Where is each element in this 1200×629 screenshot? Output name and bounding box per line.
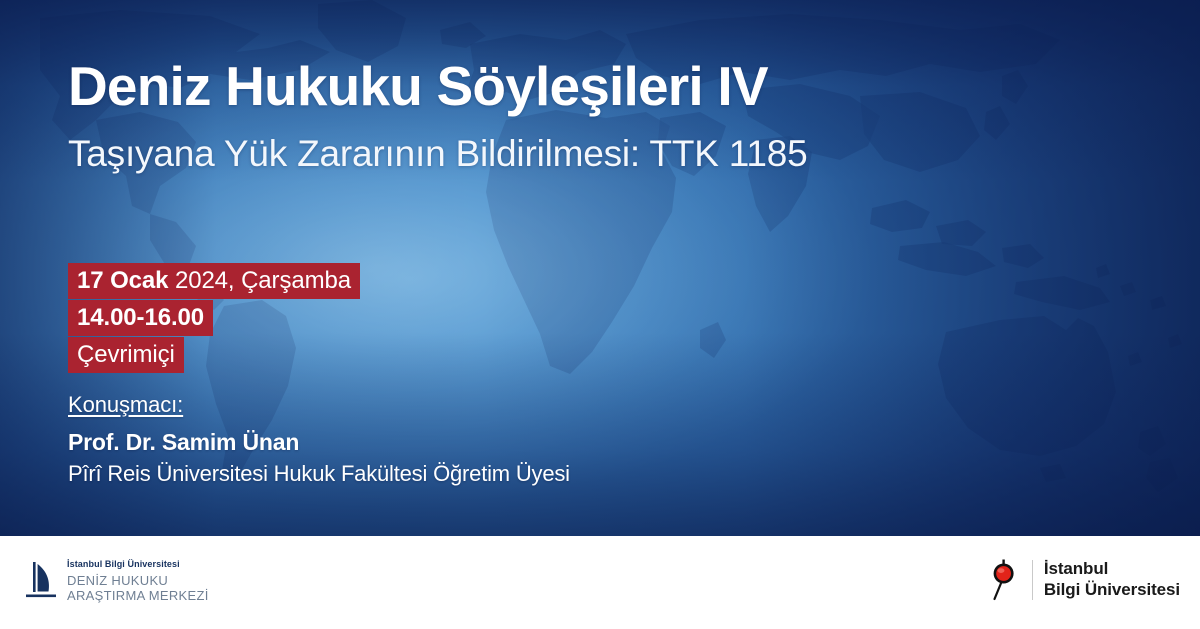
deniz-hukuku-logo-text: İstanbul Bilgi Üniversitesi DENİZ HUKUKU…	[67, 559, 209, 603]
bilgi-logo-line2: Bilgi Üniversitesi	[1044, 580, 1180, 601]
event-mode: Çevrimiçi	[68, 337, 184, 373]
event-mode-line: Çevrimiçi	[68, 336, 488, 373]
hero-panel: Deniz Hukuku Söyleşileri IV Taşıyana Yük…	[0, 0, 1200, 536]
event-time: 14.00-16.00	[68, 300, 213, 336]
bilgi-universitesi-logo: İstanbul Bilgi Üniversitesi	[987, 558, 1180, 602]
event-details: 17 Ocak 2024, Çarşamba 14.00-16.00 Çevri…	[68, 262, 488, 373]
speaker-name: Prof. Dr. Samim Ünan	[68, 429, 570, 456]
speaker-block: Konuşmacı: Prof. Dr. Samim Ünan Pîrî Rei…	[68, 392, 570, 487]
speaker-affiliation: Pîrî Reis Üniversitesi Hukuk Fakültesi Ö…	[68, 461, 570, 487]
speaker-label: Konuşmacı:	[68, 392, 570, 418]
logo-center-line1: DENİZ HUKUKU	[67, 573, 209, 588]
logo-center-line2: ARAŞTIRMA MERKEZİ	[67, 588, 209, 603]
page-subtitle: Taşıyana Yük Zararının Bildirilmesi: TTK…	[68, 129, 948, 179]
event-date-line: 17 Ocak 2024, Çarşamba	[68, 262, 488, 299]
logo-divider	[1032, 560, 1033, 600]
bilgi-logo-text: İstanbul Bilgi Üniversitesi	[1044, 559, 1180, 600]
footer-bar: İstanbul Bilgi Üniversitesi DENİZ HUKUKU…	[0, 536, 1200, 629]
pushpin-icon	[987, 558, 1021, 602]
page-title: Deniz Hukuku Söyleşileri IV	[68, 58, 768, 116]
event-date-bold: 17 Ocak	[77, 267, 168, 294]
event-date-rest: 2024, Çarşamba	[168, 267, 351, 294]
sailboat-icon	[24, 560, 58, 602]
event-time-line: 14.00-16.00	[68, 299, 488, 336]
logo-university-line: İstanbul Bilgi Üniversitesi	[67, 559, 209, 571]
deniz-hukuku-logo: İstanbul Bilgi Üniversitesi DENİZ HUKUKU…	[24, 559, 209, 603]
bilgi-logo-line1: İstanbul	[1044, 559, 1180, 580]
event-poster: Deniz Hukuku Söyleşileri IV Taşıyana Yük…	[0, 0, 1200, 629]
